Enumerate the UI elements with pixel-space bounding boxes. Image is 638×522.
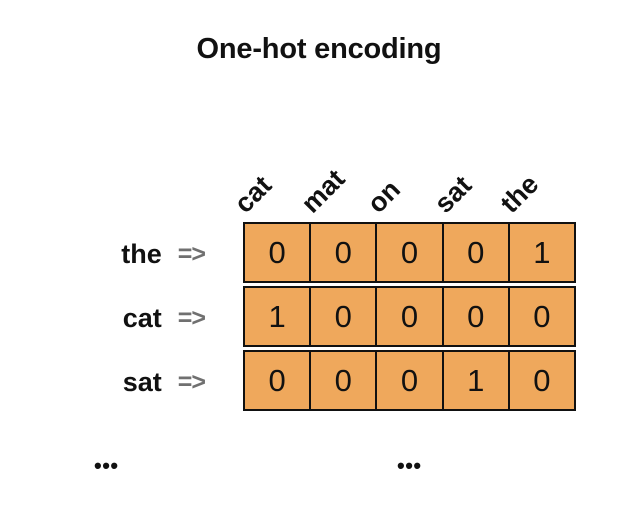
row-label-cat: cat => bbox=[0, 286, 243, 350]
maps-to-arrow-icon: => bbox=[178, 368, 205, 397]
more-entries-ellipsis: ••• bbox=[397, 455, 422, 477]
matrix-cell: 0 bbox=[245, 352, 311, 409]
column-header-mat: mat bbox=[310, 128, 377, 220]
row-label-the: the => bbox=[0, 222, 243, 286]
matrix-cell: 0 bbox=[311, 352, 377, 409]
row-label-sat: sat => bbox=[0, 350, 243, 414]
matrix-cell: 0 bbox=[377, 352, 443, 409]
column-header-cat: cat bbox=[243, 128, 310, 220]
one-hot-encoding-figure: One-hot encoding cat mat on sat the the … bbox=[0, 0, 638, 522]
matrix-row-the: 0 0 0 0 1 bbox=[243, 222, 576, 283]
matrix-cell: 0 bbox=[510, 352, 574, 409]
maps-to-arrow-icon: => bbox=[178, 304, 205, 333]
row-label-column: the => cat => sat => bbox=[0, 222, 243, 414]
matrix-cell: 0 bbox=[444, 224, 510, 281]
column-header-label: cat bbox=[230, 171, 277, 218]
matrix-cell: 0 bbox=[245, 224, 311, 281]
row-word: the bbox=[121, 239, 162, 270]
matrix-cell: 1 bbox=[510, 224, 574, 281]
column-header-band: cat mat on sat the bbox=[243, 128, 576, 220]
matrix-cell: 1 bbox=[245, 288, 311, 345]
one-hot-matrix: 0 0 0 0 1 1 0 0 0 0 0 0 0 1 0 bbox=[243, 222, 576, 411]
matrix-row-cat: 1 0 0 0 0 bbox=[243, 286, 576, 347]
matrix-cell: 0 bbox=[377, 288, 443, 345]
figure-title: One-hot encoding bbox=[0, 33, 638, 66]
matrix-cell: 1 bbox=[444, 352, 510, 409]
matrix-cell: 0 bbox=[510, 288, 574, 345]
column-header-sat: sat bbox=[443, 128, 510, 220]
matrix-cell: 0 bbox=[377, 224, 443, 281]
matrix-cell: 0 bbox=[444, 288, 510, 345]
row-word: cat bbox=[123, 303, 162, 334]
row-word: sat bbox=[123, 367, 162, 398]
matrix-row-sat: 0 0 0 1 0 bbox=[243, 350, 576, 411]
maps-to-arrow-icon: => bbox=[178, 240, 205, 269]
matrix-cell: 0 bbox=[311, 224, 377, 281]
more-rows-ellipsis: ••• bbox=[94, 455, 119, 477]
column-header-on: on bbox=[376, 128, 443, 220]
matrix-cell: 0 bbox=[311, 288, 377, 345]
column-header-the: the bbox=[509, 128, 576, 220]
